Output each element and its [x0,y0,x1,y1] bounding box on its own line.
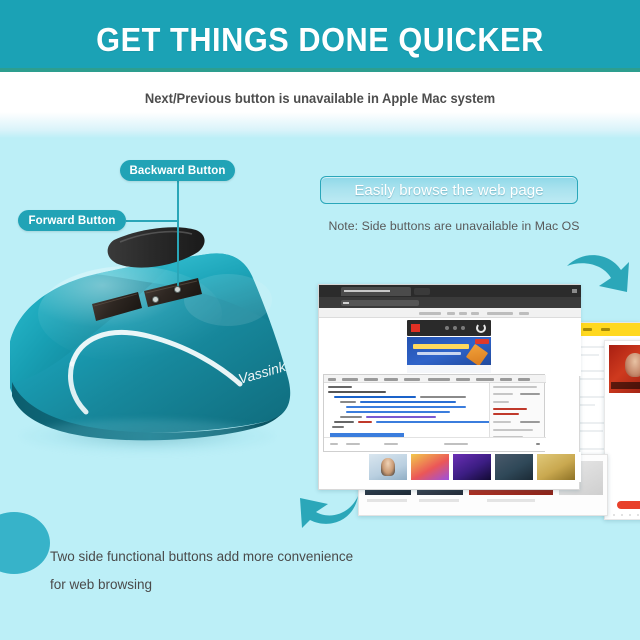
subheader-text: Next/Previous button is unavailable in A… [13,91,627,106]
backward-leader-dot [174,286,181,293]
page-hero-banner[interactable] [407,337,491,373]
footer-line-2: for web browsing [50,577,152,592]
forward-button-callout-label: Forward Button [29,215,116,227]
window-close-icon[interactable] [572,289,577,293]
banner-tag [475,339,489,344]
banner-footer [407,365,491,373]
browser-page-content [319,318,581,376]
devtools-tabbar[interactable] [324,375,546,383]
loading-spinner-icon [476,323,486,333]
pencil-icon [466,344,488,366]
browser-titlebar [319,285,581,297]
hero-caption-bar [611,382,640,389]
browser-address-input[interactable] [341,300,419,306]
player-logo [411,324,420,332]
hero-portrait [625,353,640,377]
red-panel-cta-button[interactable] [617,501,640,509]
forward-leader-dot [152,296,159,303]
video-thumbnail-strip [345,452,581,482]
devtools-elements-tree[interactable] [324,383,490,431]
devtools-panel[interactable] [323,374,545,452]
page-title: GET THINGS DONE QUICKER [22,22,617,58]
browser-tab-active[interactable] [341,287,411,296]
browser-bookmarks-bar[interactable] [319,308,581,318]
thumbnail-2[interactable] [411,454,449,480]
forward-leader-line-v [177,220,179,290]
browser-urlbar[interactable] [319,297,581,308]
product-infographic: GET THINGS DONE QUICKER Next/Previous bu… [0,0,640,640]
browser-tab-new[interactable] [414,288,430,295]
thumbnail-3[interactable] [453,454,491,480]
browse-headline-box: Easily browse the web page [320,176,578,204]
video-player[interactable] [407,320,491,336]
banner-headline [413,344,469,349]
mouse-drop-shadow [20,418,275,454]
banner-subline [417,352,461,355]
main-browser-window[interactable] [318,284,580,490]
browse-headline-text: Easily browse the web page [354,182,543,199]
subheader-fade [0,112,640,138]
devtools-styles-sidebar[interactable] [489,383,544,443]
devtools-console[interactable] [324,437,546,451]
thumbnail-1[interactable] [369,454,407,480]
red-media-panel[interactable] [604,340,640,520]
thumbnail-5[interactable] [537,454,575,480]
red-panel-dots [611,513,640,517]
thumbnail-4[interactable] [495,454,533,480]
footer-line-1: Two side functional buttons add more con… [50,549,353,564]
backward-button-callout[interactable]: Backward Button [120,160,235,181]
forward-leader-line-h [126,220,178,222]
browser-window-stack [312,278,640,518]
mac-os-note: Note: Side buttons are unavailable in Ma… [318,219,590,233]
backward-button-callout-label: Backward Button [129,165,225,177]
mouse-illustration: Vassink [0,222,310,512]
red-hero-image [609,345,640,393]
product-mouse-image: Vassink [0,222,310,512]
forward-button-callout[interactable]: Forward Button [18,210,126,231]
